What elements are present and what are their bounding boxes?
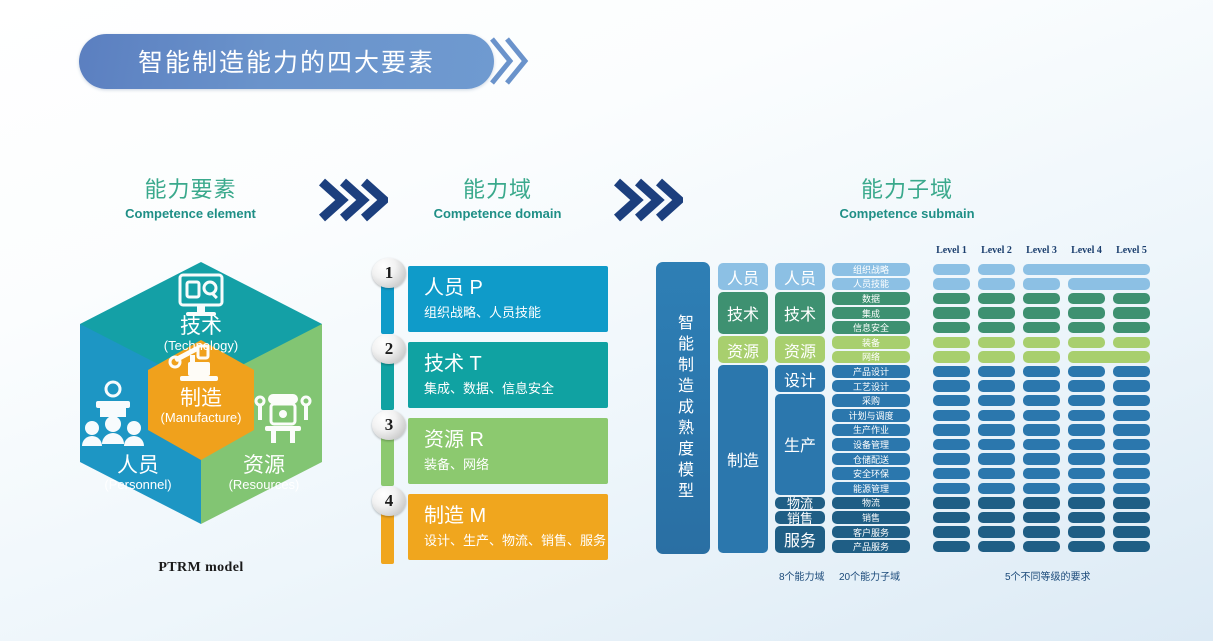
level-header: Level 1 <box>929 245 974 256</box>
level-bar[interactable] <box>978 278 1015 290</box>
domain-card-title: 技术 T <box>424 351 608 377</box>
level-bar[interactable] <box>1023 483 1060 495</box>
level-bar[interactable] <box>933 526 970 538</box>
level-bar[interactable] <box>933 453 970 465</box>
level-bar[interactable] <box>978 264 1015 276</box>
level-bar[interactable] <box>1068 497 1105 509</box>
level-bar[interactable] <box>978 424 1015 436</box>
level-bar[interactable] <box>1068 512 1105 524</box>
element-cell[interactable]: 资源 <box>718 336 768 363</box>
header-cn: 能力要素 <box>103 176 278 204</box>
level-bar[interactable] <box>933 424 970 436</box>
submain-cell[interactable]: 组织战略 <box>832 263 910 276</box>
submain-cell[interactable]: 集成 <box>832 307 910 320</box>
level-bar[interactable] <box>1113 497 1150 509</box>
domain-card-subtitle: 装备、网络 <box>424 455 608 475</box>
level-bar[interactable] <box>1023 293 1060 305</box>
level-bar[interactable] <box>978 410 1015 422</box>
level-bar[interactable] <box>933 337 970 349</box>
level-bar[interactable] <box>1068 483 1105 495</box>
domain-card-subtitle: 组织战略、人员技能 <box>424 303 608 323</box>
level-bar[interactable] <box>1113 512 1150 524</box>
level-bar[interactable] <box>1023 395 1060 407</box>
level-bar[interactable] <box>933 380 970 392</box>
level-bar[interactable] <box>933 541 970 553</box>
level-bar[interactable] <box>1113 395 1150 407</box>
submain-cell[interactable]: 客户服务 <box>832 526 910 539</box>
level-bar[interactable] <box>1068 395 1105 407</box>
level-bar[interactable] <box>978 322 1015 334</box>
triple-chevron-right-icon-2 <box>613 177 683 228</box>
level-bar[interactable] <box>1068 293 1105 305</box>
level-bar[interactable] <box>1023 380 1060 392</box>
domain-card-title: 制造 M <box>424 503 608 529</box>
level-bar[interactable] <box>978 512 1015 524</box>
maturity-model-bar: 智能制造成熟度模型 <box>656 262 710 554</box>
level-bar[interactable] <box>933 395 970 407</box>
level-bar[interactable] <box>1113 410 1150 422</box>
note-level-count: 5个不同等级的要求 <box>1005 568 1091 583</box>
submain-cell[interactable]: 安全环保 <box>832 467 910 480</box>
submain-cell[interactable]: 装备 <box>832 336 910 349</box>
level-bar[interactable] <box>1113 307 1150 319</box>
double-chevron-right-icon <box>488 33 530 89</box>
level-bar[interactable] <box>933 439 970 451</box>
submain-cell[interactable]: 信息安全 <box>832 321 910 334</box>
level-bar[interactable] <box>933 307 970 319</box>
submain-cell[interactable]: 能源管理 <box>832 482 910 495</box>
level-bar[interactable] <box>978 351 1015 363</box>
level-bar[interactable] <box>1023 278 1060 290</box>
infographic-canvas: 智能制造能力的四大要素 能力要素 Competence element 能力域 … <box>0 0 1213 641</box>
level-bar[interactable] <box>933 351 970 363</box>
level-bar[interactable] <box>978 395 1015 407</box>
card-number-badge: 4 <box>372 486 406 516</box>
domain-card-subtitle: 集成、数据、信息安全 <box>424 379 608 399</box>
note-submain-count: 20个能力子域 <box>839 568 900 583</box>
level-bar[interactable] <box>1113 322 1150 334</box>
card-number-badge: 1 <box>372 258 406 288</box>
domain-card[interactable]: 人员 P组织战略、人员技能 <box>408 266 608 332</box>
domain-card[interactable]: 资源 R装备、网络 <box>408 418 608 484</box>
level-bar[interactable] <box>1023 497 1060 509</box>
level-bar[interactable] <box>978 307 1015 319</box>
level-bar[interactable] <box>1023 512 1060 524</box>
domain-card[interactable]: 制造 M设计、生产、物流、销售、服务 <box>408 494 608 560</box>
header-en: Competence submain <box>812 206 1002 221</box>
level-bar[interactable] <box>1068 366 1105 378</box>
level-header: Level 3 <box>1019 245 1064 256</box>
submain-cell[interactable]: 计划与调度 <box>832 409 910 422</box>
level-bar[interactable] <box>1023 541 1060 553</box>
level-bar[interactable] <box>978 439 1015 451</box>
submain-cell[interactable]: 产品设计 <box>832 365 910 378</box>
level-bar[interactable] <box>933 497 970 509</box>
domain-cell[interactable]: 人员 <box>775 263 825 290</box>
level-bar[interactable] <box>1113 293 1150 305</box>
level-header: Level 4 <box>1064 245 1109 256</box>
level-bar[interactable] <box>978 526 1015 538</box>
domain-cell[interactable]: 服务 <box>775 526 825 553</box>
level-bar[interactable] <box>1113 483 1150 495</box>
card-number-badge: 2 <box>372 334 406 364</box>
submain-cell[interactable]: 仓储配送 <box>832 453 910 466</box>
level-bar[interactable] <box>1113 541 1150 553</box>
level-bar[interactable] <box>1068 410 1105 422</box>
submain-cell[interactable]: 数据 <box>832 292 910 305</box>
header-competence-domain: 能力域 Competence domain <box>410 176 585 221</box>
level-bar[interactable] <box>1068 541 1105 553</box>
ptrm-caption: PTRM model <box>72 560 330 576</box>
level-bar[interactable] <box>933 410 970 422</box>
submain-cell[interactable]: 物流 <box>832 497 910 510</box>
note-domain-count: 8个能力域 <box>779 568 825 583</box>
domain-cell[interactable]: 生产 <box>775 394 825 494</box>
submain-cell[interactable]: 设备管理 <box>832 438 910 451</box>
level-bar[interactable] <box>933 264 970 276</box>
header-cn: 能力域 <box>410 176 585 204</box>
submain-cell[interactable]: 生产作业 <box>832 424 910 437</box>
domain-card-subtitle: 设计、生产、物流、销售、服务 <box>424 531 608 551</box>
header-competence-submain: 能力子域 Competence submain <box>812 176 1002 221</box>
level-bar[interactable] <box>978 453 1015 465</box>
submain-cell[interactable]: 人员技能 <box>832 278 910 291</box>
level-bar[interactable] <box>1113 526 1150 538</box>
level-bar[interactable] <box>1113 380 1150 392</box>
title-pill: 智能制造能力的四大要素 <box>79 34 494 89</box>
domain-cell[interactable]: 销售 <box>775 511 825 524</box>
level-bar[interactable] <box>1113 468 1150 480</box>
level-bar[interactable] <box>1023 351 1060 363</box>
level-bar[interactable] <box>978 497 1015 509</box>
header-competence-element: 能力要素 Competence element <box>103 176 278 221</box>
level-bar[interactable] <box>978 468 1015 480</box>
level-bar[interactable] <box>1023 453 1060 465</box>
level-bar[interactable] <box>933 278 970 290</box>
title-banner: 智能制造能力的四大要素 <box>79 33 530 89</box>
header-cn: 能力子域 <box>812 176 1002 204</box>
level-bar[interactable] <box>933 512 970 524</box>
submain-cell[interactable]: 产品服务 <box>832 540 910 553</box>
level-bar[interactable] <box>1023 424 1060 436</box>
level-bar[interactable] <box>1023 468 1060 480</box>
submain-cell[interactable]: 工艺设计 <box>832 380 910 393</box>
level-bar[interactable] <box>1068 439 1105 451</box>
competence-domain-cards: 1人员 P组织战略、人员技能2技术 T集成、数据、信息安全3资源 R装备、网络4… <box>378 258 613 550</box>
maturity-model-label: 智能制造成熟度模型 <box>675 314 691 503</box>
level-bar[interactable] <box>933 366 970 378</box>
element-cell[interactable]: 制造 <box>718 365 768 553</box>
level-bar[interactable] <box>1113 453 1150 465</box>
page-title: 智能制造能力的四大要素 <box>138 43 435 79</box>
level-bar[interactable] <box>1068 453 1105 465</box>
level-header: Level 2 <box>974 245 1019 256</box>
submain-cell[interactable]: 网络 <box>832 351 910 364</box>
level-bar[interactable] <box>1023 307 1060 319</box>
card-number-badge: 3 <box>372 410 406 440</box>
level-bar[interactable] <box>1113 439 1150 451</box>
level-bar[interactable] <box>1023 337 1060 349</box>
level-bar[interactable] <box>933 293 970 305</box>
level-bar[interactable] <box>1068 337 1105 349</box>
level-bar[interactable] <box>1068 278 1150 290</box>
level-bar[interactable] <box>978 483 1015 495</box>
domain-cell[interactable]: 设计 <box>775 365 825 392</box>
level-bar[interactable] <box>1023 322 1060 334</box>
level-header: Level 5 <box>1109 245 1154 256</box>
level-bar[interactable] <box>1068 351 1150 363</box>
level-bar[interactable] <box>978 337 1015 349</box>
level-bar[interactable] <box>1113 366 1150 378</box>
triple-chevron-right-icon-1 <box>318 177 388 228</box>
level-bar[interactable] <box>933 468 970 480</box>
level-bar[interactable] <box>1068 307 1105 319</box>
domain-cell[interactable]: 技术 <box>775 292 825 334</box>
level-bar[interactable] <box>978 541 1015 553</box>
level-bar[interactable] <box>1068 468 1105 480</box>
level-bar[interactable] <box>1023 439 1060 451</box>
level-bar[interactable] <box>1113 424 1150 436</box>
level-bar[interactable] <box>1068 526 1105 538</box>
level-bar[interactable] <box>978 380 1015 392</box>
header-en: Competence element <box>103 206 278 221</box>
element-cell[interactable]: 技术 <box>718 292 768 334</box>
level-bar[interactable] <box>1068 380 1105 392</box>
domain-cell[interactable]: 资源 <box>775 336 825 363</box>
domain-card-title: 资源 R <box>424 427 608 453</box>
level-bar[interactable] <box>1113 337 1150 349</box>
domain-card[interactable]: 技术 T集成、数据、信息安全 <box>408 342 608 408</box>
level-bar[interactable] <box>978 366 1015 378</box>
level-bar[interactable] <box>933 483 970 495</box>
element-cell[interactable]: 人员 <box>718 263 768 290</box>
level-bar[interactable] <box>1023 264 1150 276</box>
domain-card-title: 人员 P <box>424 275 608 301</box>
level-bar[interactable] <box>1068 322 1105 334</box>
submain-cell[interactable]: 销售 <box>832 511 910 524</box>
ptrm-hexagon-model: 技术 (Technology) 人员 (Personnel) 资源 (Resou… <box>72 258 330 528</box>
level-bar[interactable] <box>933 322 970 334</box>
level-bar[interactable] <box>1023 410 1060 422</box>
header-en: Competence domain <box>410 206 585 221</box>
submain-cell[interactable]: 采购 <box>832 394 910 407</box>
level-bar[interactable] <box>1023 526 1060 538</box>
level-bar[interactable] <box>978 293 1015 305</box>
level-bar[interactable] <box>1068 424 1105 436</box>
level-bar[interactable] <box>1023 366 1060 378</box>
